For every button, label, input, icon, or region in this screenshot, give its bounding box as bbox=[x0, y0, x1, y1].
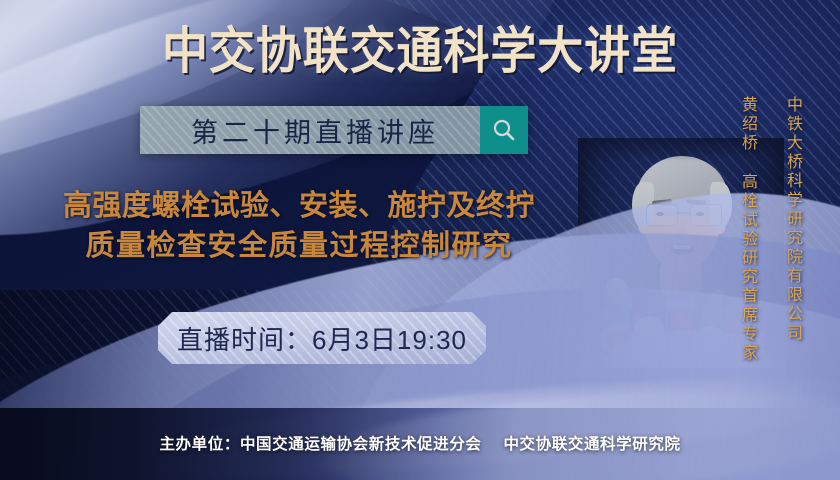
broadcast-time-label: 直播时间：6月3日19:30 bbox=[177, 320, 467, 357]
footer-institute-label: 中交协联交通科学研究院 bbox=[503, 436, 680, 453]
livestream-poster: 中交协联交通科学大讲堂 第二十期直播讲座 高强度螺栓试验、安装、施拧及终拧 质量… bbox=[0, 0, 840, 480]
speaker-title-vertical: 黄绍桥 高栓试验研究首席专家 bbox=[735, 96, 759, 363]
episode-label: 第二十期直播讲座 bbox=[140, 106, 480, 154]
search-icon bbox=[491, 117, 517, 143]
search-button[interactable] bbox=[480, 106, 528, 154]
footer-organizer-label: 主办单位：中国交通运输协会新技术促进分会 bbox=[159, 436, 481, 453]
lecture-headline-line1: 高强度螺栓试验、安装、施拧及终拧 bbox=[14, 186, 584, 226]
episode-banner[interactable]: 第二十期直播讲座 bbox=[140, 106, 528, 154]
page-title: 中交协联交通科学大讲堂 bbox=[34, 22, 807, 80]
speaker-organization-vertical: 中铁大桥科学研究院有限公司 bbox=[780, 96, 804, 343]
footer-organizers: 主办单位：中国交通运输协会新技术促进分会中交协联交通科学研究院 bbox=[0, 432, 840, 454]
broadcast-time-badge: 直播时间：6月3日19:30 bbox=[158, 312, 486, 364]
lecture-headline: 高强度螺栓试验、安装、施拧及终拧 质量检查安全质量过程控制研究 bbox=[14, 186, 584, 266]
lecture-headline-line2: 质量检查安全质量过程控制研究 bbox=[14, 226, 584, 266]
